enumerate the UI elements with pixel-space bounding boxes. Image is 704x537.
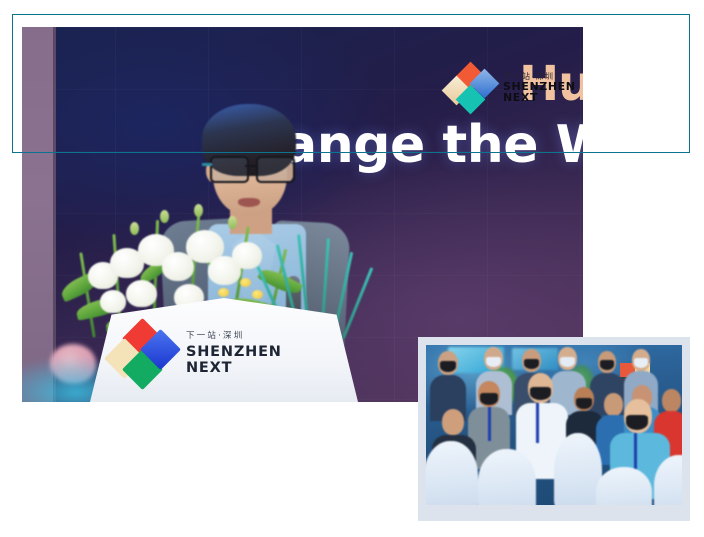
inset-audience-photo[interactable]	[426, 345, 682, 505]
podium-shenzhen-next-logo: 下一站·深圳 SHENZHEN NEXT	[110, 320, 296, 388]
speaker-glasses-icon	[206, 156, 298, 180]
chair-cover	[478, 449, 536, 505]
chair-cover	[554, 433, 602, 505]
inset-audience-photo-mat	[418, 337, 690, 521]
podium-logo-name-line-1: SHENZHEN	[186, 344, 282, 360]
podium-logo-text-block: 下一站·深圳 SHENZHEN NEXT	[186, 332, 282, 376]
shenzhen-next-diamond-icon	[446, 65, 496, 111]
podium-diamond-icon	[110, 323, 176, 385]
podium-logo-chinese-line: 下一站·深圳	[186, 332, 282, 342]
wall-shenzhen-next-logo: 下一站·深圳 SHENZHEN NEXT	[446, 64, 583, 112]
wall-logo-name-line-2: NEXT	[503, 92, 576, 103]
wall-logo-text-block: 下一站·深圳 SHENZHEN NEXT	[503, 73, 576, 104]
chair-cover	[426, 441, 478, 505]
podium-logo-name-line-2: NEXT	[186, 360, 282, 376]
